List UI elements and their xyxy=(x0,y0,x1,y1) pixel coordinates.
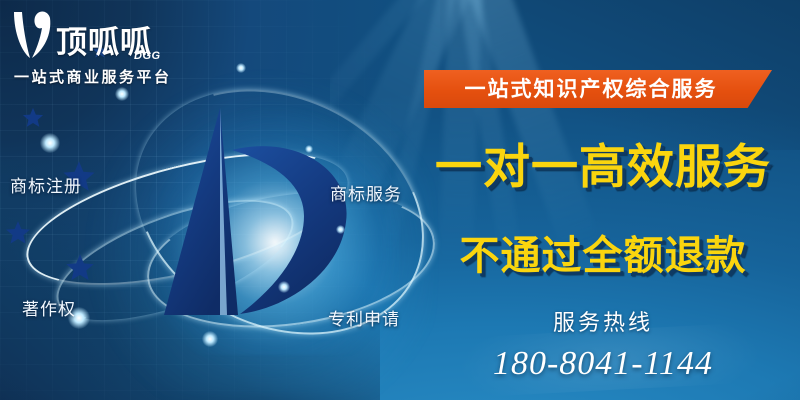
sparkle-icon xyxy=(202,331,218,347)
keyword-copyright: 著作权 xyxy=(22,295,76,320)
sparkle-icon xyxy=(336,225,345,234)
brand-name-en: DGG xyxy=(134,50,161,62)
sparkle-icon xyxy=(40,133,60,153)
sparkle-icon xyxy=(278,281,290,293)
central-emblem xyxy=(110,45,410,385)
keyword-trademark-service: 商标服务 xyxy=(330,180,402,205)
promo-banner: 顶呱呱 DGG 一站式商业服务平台 商标注册 著作权 商标服务 专利申请 一站式… xyxy=(0,0,800,400)
sparkle-icon xyxy=(115,87,129,101)
five-point-star-icon xyxy=(5,220,31,246)
hotline-number[interactable]: 180-8041-1144 xyxy=(418,345,788,383)
promo-headline: 一对一高效服务 xyxy=(418,140,788,196)
sparkle-icon xyxy=(236,63,246,73)
hotline-label: 服务热线 xyxy=(418,305,788,337)
keyword-patent-application: 专利申请 xyxy=(328,305,400,330)
promo-ribbon-label: 一站式知识产权综合服务 xyxy=(424,70,772,108)
promo-subline: 不通过全额退款 xyxy=(418,232,788,280)
brand-logo[interactable]: 顶呱呱 DGG 一站式商业服务平台 xyxy=(10,8,210,88)
keyword-trademark-registration: 商标注册 xyxy=(10,172,82,197)
sparkle-icon xyxy=(305,145,313,153)
leaf-check-logo-icon xyxy=(10,8,54,60)
promo-ribbon: 一站式知识产权综合服务 xyxy=(424,70,772,108)
five-point-star-icon xyxy=(22,107,44,129)
five-point-star-icon xyxy=(65,253,95,283)
brand-tagline: 一站式商业服务平台 xyxy=(14,66,172,87)
